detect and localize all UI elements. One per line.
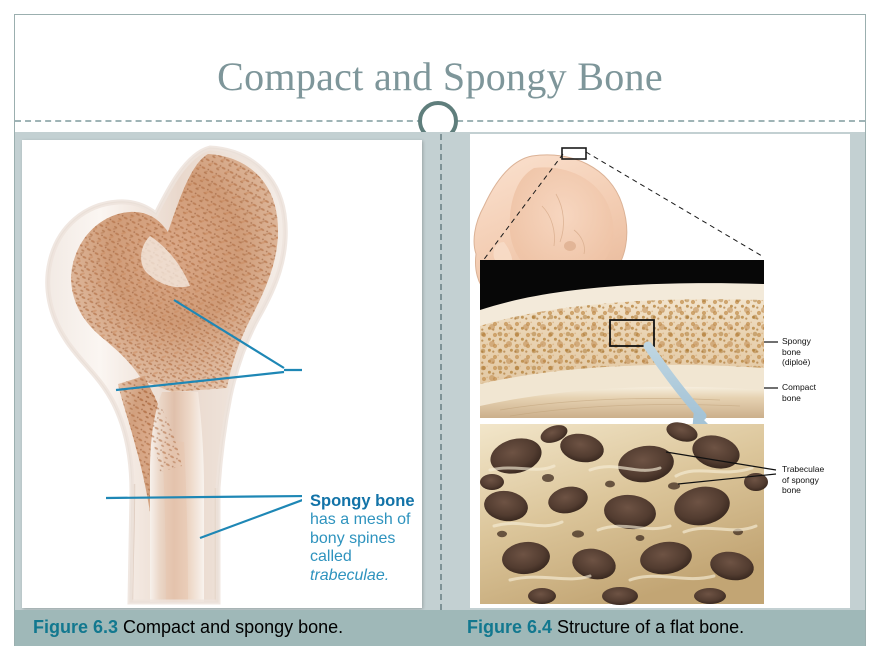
spongy-diploe-line1: Spongy — [782, 336, 844, 347]
caption-bar: Figure 6.3 Compact and spongy bone. Figu… — [15, 610, 865, 646]
spongy-bone-diploe-label: Spongy bone (diploë) — [782, 336, 844, 368]
spongy-bone-line3: called — [310, 548, 422, 567]
trabeculae-label: Trabeculae of spongy bone — [782, 464, 848, 496]
slide: Compact and Spongy Bone — [0, 0, 880, 660]
figure-6-3-card: Spongy bone has a mesh of bony spines ca… — [22, 140, 422, 608]
spongy-bone-line1: has a mesh of — [310, 511, 422, 530]
vertical-divider — [440, 134, 442, 610]
flat-bone-cross-section-photo — [480, 260, 764, 418]
spongy-bone-line2: bony spines — [310, 530, 422, 549]
spongy-bone-line4: trabeculae. — [310, 567, 422, 586]
trabeculae-line1: Trabeculae — [782, 464, 848, 475]
trabecular-sem-photo — [480, 419, 768, 605]
figure-6-3-number: Figure 6.3 — [33, 617, 118, 637]
trabeculae-line2: of spongy — [782, 475, 848, 486]
compact-small-line1: Compact — [782, 382, 844, 393]
figure-6-4-caption: Figure 6.4 Structure of a flat bone. — [467, 617, 744, 638]
compact-small-line2: bone — [782, 393, 844, 404]
femur-section-image — [22, 140, 302, 608]
figure-6-4-card: Spongy bone (diploë) Compact bone Trabec… — [470, 134, 850, 608]
flat-bone-figure — [470, 134, 850, 608]
spongy-bone-label: Spongy bone has a mesh of bony spines ca… — [310, 492, 422, 585]
trabeculae-line3: bone — [782, 485, 848, 496]
page-title: Compact and Spongy Bone — [15, 53, 865, 100]
compact-bone-small-label: Compact bone — [782, 382, 844, 403]
spongy-diploe-line2: bone — [782, 347, 844, 358]
spongy-bone-heading: Spongy bone — [310, 492, 422, 511]
figure-6-3-caption: Figure 6.3 Compact and spongy bone. — [33, 617, 343, 638]
figure-6-4-number: Figure 6.4 — [467, 617, 552, 637]
figure-6-4-text: Structure of a flat bone. — [552, 617, 744, 637]
figure-6-3-text: Compact and spongy bone. — [118, 617, 343, 637]
spongy-diploe-line3: (diploë) — [782, 357, 844, 368]
